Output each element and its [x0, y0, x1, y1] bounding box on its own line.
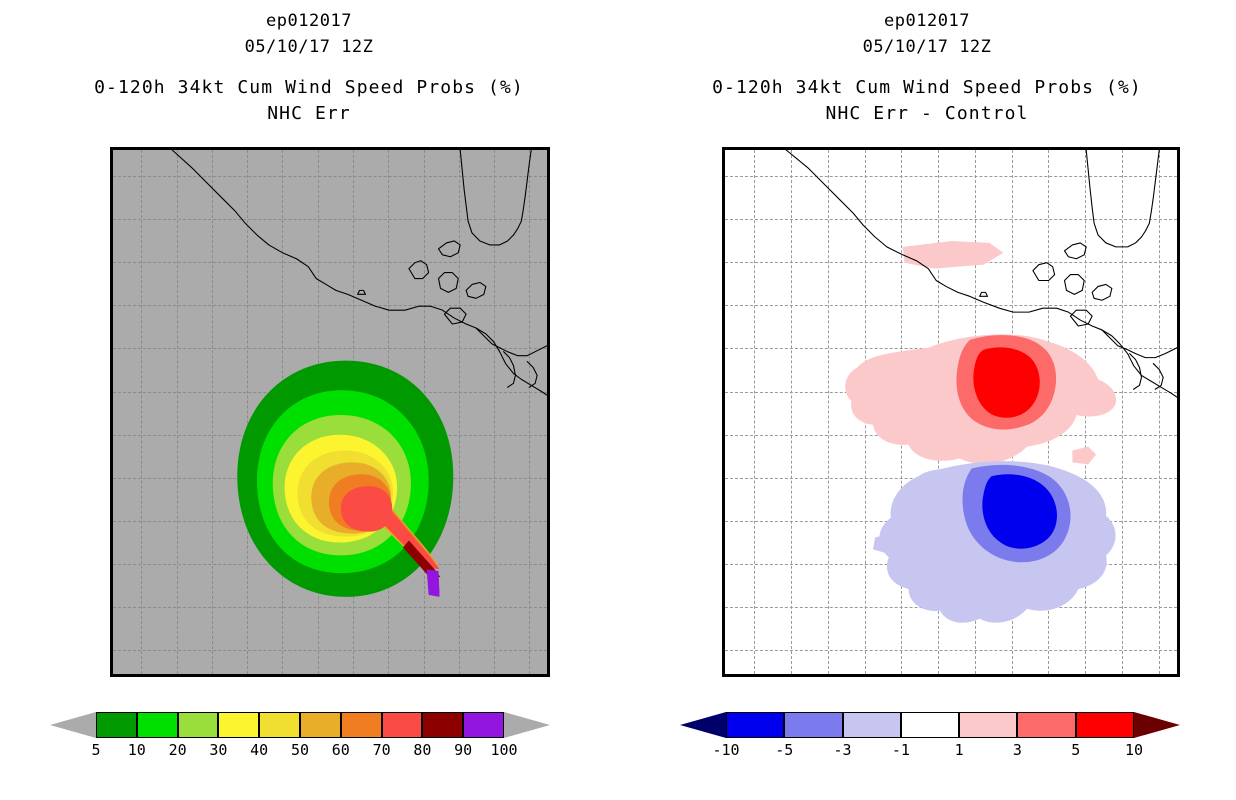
- chart-title-left: 0-120h 34kt Cum Wind Speed Probs (%): [0, 74, 618, 101]
- y-tick: [110, 435, 113, 437]
- colorbar-tick-label: 40: [250, 743, 268, 758]
- left-panel-titles: ep012017 05/10/17 12Z 0-120h 34kt Cum Wi…: [0, 8, 618, 127]
- y-tick: [110, 564, 113, 566]
- colorbar-tick-label: -5: [775, 743, 793, 758]
- chart-subtitle-left: NHC Err: [0, 101, 618, 127]
- x-tick: [865, 674, 867, 677]
- panel-nhc-err-minus-control: ep012017 05/10/17 12Z 0-120h 34kt Cum Wi…: [618, 0, 1236, 800]
- x-tick: [791, 674, 793, 677]
- y-tick: [110, 262, 113, 264]
- colorbar-tick-label: 20: [169, 743, 187, 758]
- x-tick: [494, 674, 496, 677]
- colorbar-swatch: [959, 712, 1017, 738]
- x-tick: [828, 674, 830, 677]
- y-tick: [722, 435, 725, 437]
- colorbar-swatch: [843, 712, 901, 738]
- colorbar-tick-label: -3: [834, 743, 852, 758]
- colorbar-cap-low: [50, 712, 96, 738]
- colorbar-cap-high: [504, 712, 550, 738]
- x-tick: [529, 674, 531, 677]
- y-tick: [722, 478, 725, 480]
- chart-subtitle-right: NHC Err - Control: [618, 101, 1236, 127]
- datetime-left: 05/10/17 12Z: [0, 34, 618, 60]
- colorbar-swatch: [300, 712, 341, 738]
- x-tick: [247, 674, 249, 677]
- panel-nhc-err: ep012017 05/10/17 12Z 0-120h 34kt Cum Wi…: [0, 0, 618, 800]
- forecast-comparison-page: ep012017 05/10/17 12Z 0-120h 34kt Cum Wi…: [0, 0, 1236, 800]
- x-tick: [212, 674, 214, 677]
- colorbar-tick-label: 90: [454, 743, 472, 758]
- y-tick: [110, 478, 113, 480]
- colorbar-swatch: [96, 712, 137, 738]
- x-tick: [459, 674, 461, 677]
- colorbar-tick-label: 50: [291, 743, 309, 758]
- colorbar-tick-label: 60: [332, 743, 350, 758]
- x-tick: [388, 674, 390, 677]
- y-tick: [722, 305, 725, 307]
- x-tick: [938, 674, 940, 677]
- x-tick: [1085, 674, 1087, 677]
- x-tick: [177, 674, 179, 677]
- colorbar-cap-low: [680, 712, 726, 738]
- colorbar-tick-label: 1: [955, 743, 964, 758]
- y-tick: [110, 305, 113, 307]
- colorbar-swatch: [1076, 712, 1134, 738]
- x-tick: [1048, 674, 1050, 677]
- colorbar-tick-label: 3: [1013, 743, 1022, 758]
- y-tick: [110, 607, 113, 609]
- colorbar-tick-label: 100: [490, 743, 517, 758]
- probability-colorbar[interactable]: 5102030405060708090100: [50, 712, 550, 770]
- storm-id-right: ep012017: [618, 8, 1236, 34]
- colorbar-tick-label: 10: [128, 743, 146, 758]
- colorbar-swatch: [137, 712, 178, 738]
- chart-title-right: 0-120h 34kt Cum Wind Speed Probs (%): [618, 74, 1236, 101]
- colorbar-cap-high: [1134, 712, 1180, 738]
- map-plot-left[interactable]: 108W106W104W102W100W98W96W94W92W90W88W86…: [110, 147, 550, 677]
- colorbar-swatch: [726, 712, 784, 738]
- y-tick: [722, 176, 725, 178]
- colorbar-swatch: [218, 712, 259, 738]
- colorbar-swatch: [178, 712, 219, 738]
- colorbar-tick-label: 70: [373, 743, 391, 758]
- difference-colorbar[interactable]: -10-5-3-113510: [680, 712, 1180, 770]
- right-panel-titles: ep012017 05/10/17 12Z 0-120h 34kt Cum Wi…: [618, 8, 1236, 127]
- colorbar-swatch: [901, 712, 959, 738]
- colorbar-tick-label: 5: [1071, 743, 1080, 758]
- x-tick: [353, 674, 355, 677]
- y-tick: [110, 650, 113, 652]
- colorbar-tick-label: -1: [892, 743, 910, 758]
- x-tick: [901, 674, 903, 677]
- y-tick: [110, 219, 113, 221]
- x-tick: [282, 674, 284, 677]
- x-tick: [1012, 674, 1014, 677]
- datetime-right: 05/10/17 12Z: [618, 34, 1236, 60]
- colorbar-swatch: [382, 712, 423, 738]
- y-tick: [110, 348, 113, 350]
- storm-id-left: ep012017: [0, 8, 618, 34]
- y-tick: [722, 521, 725, 523]
- x-tick: [754, 674, 756, 677]
- colorbar-swatch: [784, 712, 842, 738]
- coastlines-left: [113, 150, 547, 674]
- coastlines-right: [725, 150, 1177, 674]
- y-tick: [722, 607, 725, 609]
- colorbar-tick-label: -10: [712, 743, 739, 758]
- colorbar-swatch: [422, 712, 463, 738]
- y-tick: [110, 521, 113, 523]
- map-plot-right[interactable]: 108W106W104W102W100W98W96W94W92W90W88W86…: [722, 147, 1180, 677]
- y-tick: [722, 650, 725, 652]
- colorbar-swatch: [259, 712, 300, 738]
- x-tick: [141, 674, 143, 677]
- colorbar-swatch: [1017, 712, 1075, 738]
- y-tick: [722, 262, 725, 264]
- x-tick: [1122, 674, 1124, 677]
- y-tick: [110, 392, 113, 394]
- x-tick: [424, 674, 426, 677]
- y-tick: [722, 564, 725, 566]
- y-tick: [110, 176, 113, 178]
- colorbar-tick-label: 10: [1125, 743, 1143, 758]
- colorbar-swatch: [341, 712, 382, 738]
- colorbar-tick-label: 80: [413, 743, 431, 758]
- y-tick: [722, 219, 725, 221]
- colorbar-tick-label: 5: [91, 743, 100, 758]
- y-tick: [722, 392, 725, 394]
- y-tick: [722, 348, 725, 350]
- x-tick: [318, 674, 320, 677]
- colorbar-swatch: [463, 712, 504, 738]
- x-tick: [1159, 674, 1161, 677]
- x-tick: [975, 674, 977, 677]
- colorbar-tick-label: 30: [209, 743, 227, 758]
